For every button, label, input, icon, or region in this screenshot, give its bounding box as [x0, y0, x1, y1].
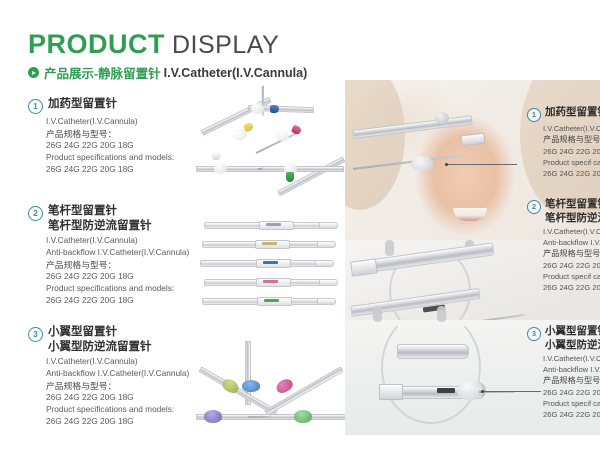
right-block-1-spec-values-en: 26G 24G 22G 20G 1 [543, 168, 600, 179]
right-photo-panel: 1 加药型留置针 I.V.Catheter(I.V.Cann 产品规格与型号： … [345, 80, 600, 435]
play-triangle-icon [28, 67, 39, 78]
right-block-2-name-en: I.V.Catheter(I.V.Cann [543, 226, 600, 237]
product-2-name-cn: 笔杆型留置针 [48, 204, 152, 219]
product-3-names: 小翼型留置针 小翼型防逆流留置针 [48, 325, 152, 354]
right-block-3: 3 小翼型留置针 小翼型防逆流留 I.V.Catheter(I.V.Can An… [527, 325, 600, 420]
product-1-image [196, 100, 342, 192]
product-3-image [196, 332, 346, 438]
right-block-2-spec-label-cn: 产品规格与型号： [543, 248, 600, 260]
product-1-name-cn: 加药型留置针 [48, 97, 117, 112]
right-block-3-name-en: I.V.Catheter(I.V.Can [543, 353, 600, 364]
page-subtitle: 产品展示-静脉留置针 I.V.Catheter(I.V.Cannula) [28, 63, 307, 82]
right-block-3-name-cn2: 小翼型防逆流留 [545, 339, 600, 353]
product-1-names: 加药型留置针 [48, 97, 117, 112]
right-block-1-name-en: I.V.Catheter(I.V.Cann [543, 123, 600, 134]
right-block-2-specs: I.V.Catheter(I.V.Cann Anti-backflow I.V.… [543, 226, 600, 293]
right-block-3-spec-label-cn: 产品规格与型号： [543, 375, 600, 387]
right-block-2-spec-label-en: Product specif cation [543, 271, 600, 282]
product-1-photo-art [351, 108, 516, 198]
right-block-1-name-cn: 加药型留置针 [545, 106, 600, 120]
right-block-2-name-en2: Anti-backflow I.V.C [543, 237, 600, 248]
product-2-name-cn2: 笔杆型防逆流留置针 [48, 219, 152, 234]
title-light: DISPLAY [172, 31, 279, 59]
right-block-1-spec-label-cn: 产品规格与型号： [543, 134, 600, 146]
smile-detail [453, 208, 487, 221]
right-block-3-number-badge: 3 [527, 327, 541, 341]
right-block-1-specs: I.V.Catheter(I.V.Cann 产品规格与型号： 26G 24G 2… [543, 123, 600, 179]
right-block-1-number-badge: 1 [527, 108, 541, 122]
right-block-2-spec-values-en: 26G 24G 22G 20G 1 [543, 282, 600, 293]
product-display-page: PRODUCTDISPLAY 产品展示-静脉留置针 I.V.Catheter(I… [0, 0, 600, 450]
title-strong: PRODUCT [28, 29, 165, 59]
product-3-name-cn: 小翼型留置针 [48, 325, 152, 340]
product-3-number-badge: 3 [28, 327, 43, 342]
right-block-1-names: 加药型留置针 [545, 106, 600, 120]
product-3-photo-art [375, 338, 543, 418]
right-block-3-name-cn: 小翼型留置针 [545, 325, 600, 339]
page-title: PRODUCTDISPLAY [28, 30, 307, 58]
right-block-3-specs: I.V.Catheter(I.V.Can Anti-backflow I.V.C… [543, 353, 600, 420]
right-block-3-heading: 3 小翼型留置针 小翼型防逆流留 [527, 325, 600, 352]
right-block-1-spec-label-en: Product specif cation [543, 157, 600, 168]
product-1-number-badge: 1 [28, 99, 43, 114]
right-block-2-names: 笔杆型留置针 笔杆型防逆流留 [545, 198, 600, 225]
subtitle-chinese: 产品展示-静脉留置针 [44, 63, 161, 82]
right-block-3-spec-values-en: 26G 24G 22G 20G 1 [543, 409, 600, 420]
product-3-name-cn2: 小翼型防逆流留置针 [48, 340, 152, 355]
right-block-3-name-en2: Anti-backflow I.V.C [543, 364, 600, 375]
right-block-2-heading: 2 笔杆型留置针 笔杆型防逆流留 [527, 198, 600, 225]
right-block-2-name-cn2: 笔杆型防逆流留 [545, 212, 600, 226]
product-2-number-badge: 2 [28, 206, 43, 221]
right-block-3-spec-label-en: Product specif cation [543, 398, 600, 409]
right-block-1: 1 加药型留置针 I.V.Catheter(I.V.Cann 产品规格与型号： … [527, 106, 600, 179]
right-block-2-spec-values-cn: 26G 24G 22G 20G 1 [543, 260, 600, 271]
page-header: PRODUCTDISPLAY 产品展示-静脉留置针 I.V.Catheter(I… [28, 30, 307, 82]
right-block-3-spec-values-cn: 26G 24G 22G 20G 1 [543, 387, 600, 398]
right-block-2-name-cn: 笔杆型留置针 [545, 198, 600, 212]
product-2-image [200, 218, 340, 314]
right-block-3-names: 小翼型留置针 小翼型防逆流留 [545, 325, 600, 352]
right-block-2-number-badge: 2 [527, 200, 541, 214]
right-block-1-spec-values-cn: 26G 24G 22G 20G 1 [543, 146, 600, 157]
right-block-2: 2 笔杆型留置针 笔杆型防逆流留 I.V.Catheter(I.V.Cann A… [527, 198, 600, 293]
product-2-names: 笔杆型留置针 笔杆型防逆流留置针 [48, 204, 152, 233]
right-block-1-heading: 1 加药型留置针 [527, 106, 600, 122]
subtitle-english: I.V.Catheter(I.V.Cannula) [164, 66, 308, 80]
